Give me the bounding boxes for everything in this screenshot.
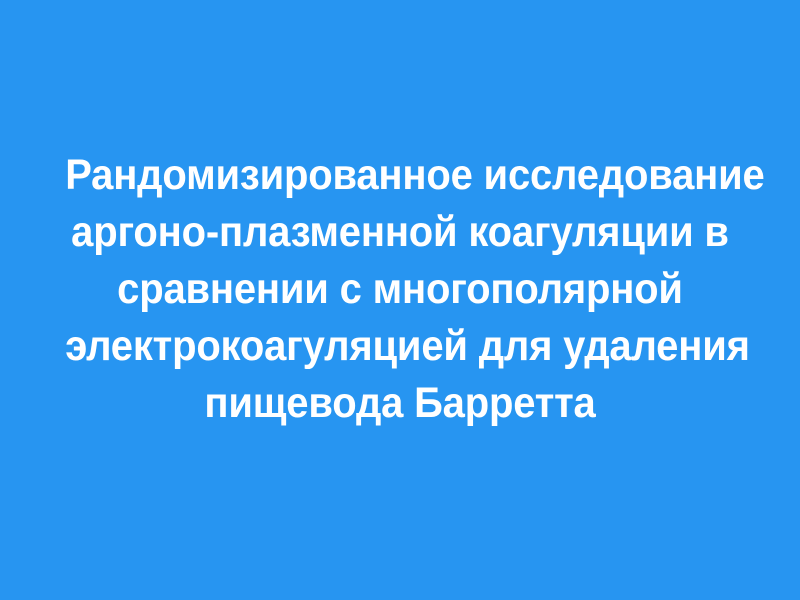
title-slide: Рандомизированное исследование аргоно-пл… <box>0 0 800 600</box>
title-line: аргоно-плазменной коагуляции в <box>65 204 735 261</box>
title-line: сравнении с многополярной <box>65 261 735 318</box>
title-line: Рандомизированное исследование <box>65 147 735 204</box>
title-line: электрокоагуляцией для удаления <box>65 318 735 375</box>
title-line: пищевода Барретта <box>65 375 735 432</box>
page-title: Рандомизированное исследование аргоно-пл… <box>40 147 760 432</box>
